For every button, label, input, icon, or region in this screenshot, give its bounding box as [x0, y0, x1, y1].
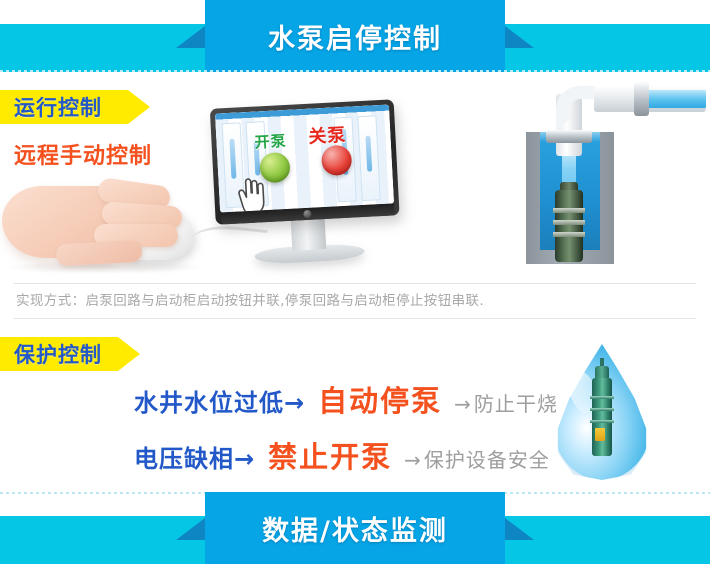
well-pump-illustration	[498, 72, 704, 272]
protection-rule-row: 电压缺相 → 禁止开泵 → 保护设备安全	[134, 434, 550, 476]
subhead-remote-manual-control: 远程手动控制	[14, 138, 152, 170]
pipe-water-flow	[648, 90, 706, 108]
implementation-note: 实现方式：启泵回路与启动柜启动按钮并联,停泵回路与启动柜停止按钮串联.	[16, 289, 484, 309]
pump-band	[553, 208, 585, 213]
hand-on-mouse-illustration	[0, 168, 194, 278]
drop-pump-ring	[590, 408, 614, 411]
bottom-banner: 数据/状态监测	[0, 492, 710, 564]
drop-pump-nameplate	[595, 428, 605, 441]
rule-benefit: 保护设备安全	[424, 444, 550, 473]
bottom-banner-ribbon: 数据/状态监测	[205, 492, 505, 564]
desktop-monitor-illustration: 开泵 关泵	[202, 99, 410, 275]
rule-action: 禁止开泵	[260, 434, 400, 476]
drop-pump-ring	[590, 396, 614, 399]
rule-arrow-secondary: →	[400, 448, 424, 472]
pipe-collar-upper	[634, 82, 649, 116]
rule-condition: 水井水位过低	[134, 383, 284, 418]
monitor-frame: 开泵 关泵	[210, 99, 400, 224]
tag-run-control-label: 运行控制	[0, 92, 102, 122]
pump-band	[553, 232, 585, 237]
water-drop-illustration	[548, 344, 656, 484]
impl-divider-top	[14, 283, 696, 284]
open-pump-label: 开泵	[254, 130, 287, 153]
tag-protection-control: 保护控制	[0, 337, 140, 371]
tag-protection-control-label: 保护控制	[0, 339, 102, 369]
top-banner-title: 水泵启停控制	[205, 0, 505, 72]
page-root: 水泵启停控制 运行控制 远程手动控制	[0, 0, 710, 564]
rule-benefit: 防止干烧	[474, 388, 558, 417]
submersible-pump	[555, 190, 583, 262]
pipe-collar-lower	[546, 130, 592, 143]
pump-band	[553, 220, 585, 225]
rule-condition: 电压缺相	[134, 439, 234, 474]
impl-divider-bottom	[14, 318, 696, 319]
top-banner: 水泵启停控制	[0, 0, 710, 72]
rule-arrow-primary: →	[234, 445, 260, 473]
tag-run-control: 运行控制	[0, 90, 150, 124]
protection-rule-row: 水井水位过低 → 自动停泵 → 防止干烧	[134, 378, 558, 420]
hand-pointer-icon	[232, 175, 268, 212]
finger-thumb	[55, 240, 142, 266]
drop-submersible-pump	[592, 378, 612, 456]
rule-action: 自动停泵	[310, 378, 450, 420]
drop-pump-ring	[590, 420, 614, 423]
monitor-screen: 开泵 关泵	[215, 105, 394, 213]
rule-arrow-secondary: →	[450, 392, 474, 416]
bottom-banner-title: 数据/状态监测	[205, 492, 505, 564]
rule-arrow-primary: →	[284, 389, 310, 417]
top-banner-ribbon: 水泵启停控制	[205, 0, 505, 72]
close-pump-label: 关泵	[308, 121, 347, 149]
